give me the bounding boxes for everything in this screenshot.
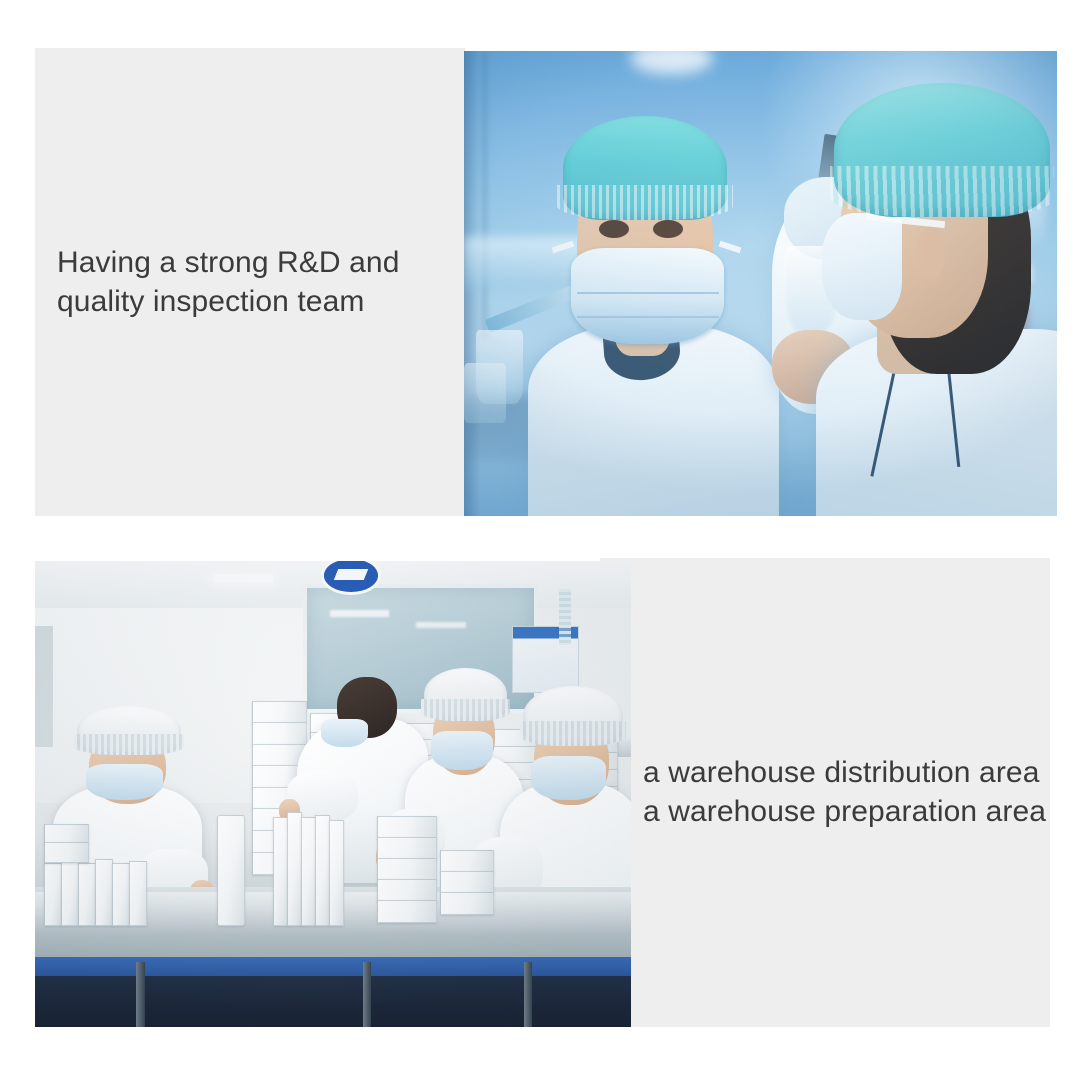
table-leg-1 — [136, 962, 144, 1027]
lab-worker-profile — [772, 79, 1057, 516]
warehouse-caption-line-1: a warehouse distribution area — [643, 753, 1046, 792]
lab-eye-left — [599, 220, 629, 238]
rnd-lab-photo — [464, 51, 1057, 516]
rnd-caption-line-2: quality inspection team — [57, 282, 399, 321]
lab-wall-seam — [482, 51, 487, 339]
table-leg-3 — [524, 962, 532, 1027]
lab-face-mask-front — [571, 248, 724, 344]
worker-hairnet — [77, 706, 181, 755]
carton-column-bottle — [208, 803, 262, 924]
lab-hairnet-profile — [834, 83, 1050, 217]
carton-stack-foreground-right — [369, 803, 512, 933]
worker-mask — [531, 756, 605, 799]
warehouse-caption-line-2: a warehouse preparation area — [643, 792, 1046, 831]
lab-face-mask-profile — [822, 213, 902, 320]
lab-ear-profile — [917, 226, 945, 280]
warehouse-ceiling-light-1 — [214, 575, 274, 582]
table-under-shadow — [35, 976, 631, 1027]
lab-mask-strap-left — [552, 241, 575, 254]
carton-stack-foreground-center — [273, 794, 380, 924]
worker-mask — [431, 731, 493, 770]
worker-hairnet — [523, 686, 623, 745]
lab-mask-fold-2 — [577, 316, 719, 318]
rnd-caption: Having a strong R&D and quality inspecti… — [57, 243, 399, 321]
warehouse-door-frame — [35, 626, 53, 747]
warehouse-photo — [35, 561, 631, 1027]
page-canvas: Having a strong R&D and quality inspecti… — [0, 0, 1080, 1080]
worker-mask — [321, 719, 368, 747]
window-light-reflection-1 — [330, 610, 389, 617]
worker-mask — [86, 764, 163, 800]
lab-mask-strap-right — [718, 241, 741, 254]
warehouse-caption: a warehouse distribution area a warehous… — [643, 753, 1046, 831]
lab-worker-front — [511, 116, 784, 516]
carton-row-foreground-left — [41, 822, 196, 925]
worker-hairnet — [424, 668, 507, 721]
table-leg-2 — [363, 962, 371, 1027]
lab-small-glassware — [464, 363, 506, 423]
lab-hairnet-front — [563, 116, 727, 220]
lab-mask-fold-1 — [577, 292, 719, 294]
rnd-caption-line-1: Having a strong R&D and — [57, 243, 399, 282]
warehouse-hanging-strip — [559, 589, 571, 645]
